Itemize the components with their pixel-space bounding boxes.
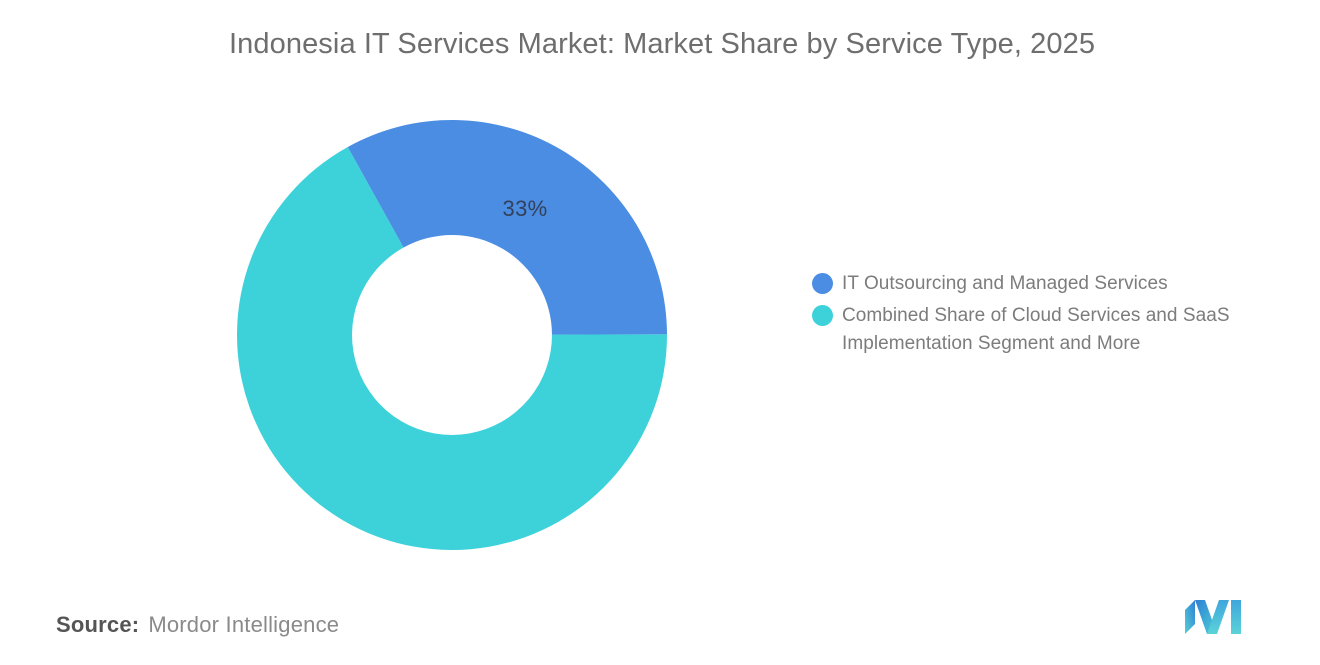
legend-item-label: IT Outsourcing and Managed Services <box>842 270 1168 298</box>
source-attribution: Source: Mordor Intelligence <box>56 612 339 638</box>
donut-slice-label-it-outsourcing: 33% <box>455 196 595 222</box>
source-name: Mordor Intelligence <box>148 612 339 638</box>
legend-color-swatch-icon <box>812 273 833 294</box>
legend-item-cloud-saas[interactable]: Combined Share of Cloud Services and Saa… <box>812 302 1302 358</box>
donut-chart <box>237 120 667 550</box>
legend-item-it-outsourcing[interactable]: IT Outsourcing and Managed Services <box>812 270 1302 298</box>
donut-chart-svg <box>237 120 667 550</box>
legend-color-swatch-icon <box>812 305 833 326</box>
logo-svg <box>1183 598 1253 636</box>
page-title: Indonesia IT Services Market: Market Sha… <box>229 28 1289 61</box>
chart-legend: IT Outsourcing and Managed Services Comb… <box>812 270 1302 362</box>
mordor-intelligence-logo-icon <box>1183 598 1253 636</box>
legend-item-label: Combined Share of Cloud Services and Saa… <box>842 302 1302 358</box>
donut-slice-it-outsourcing[interactable] <box>348 120 667 335</box>
source-label: Source: <box>56 612 139 638</box>
